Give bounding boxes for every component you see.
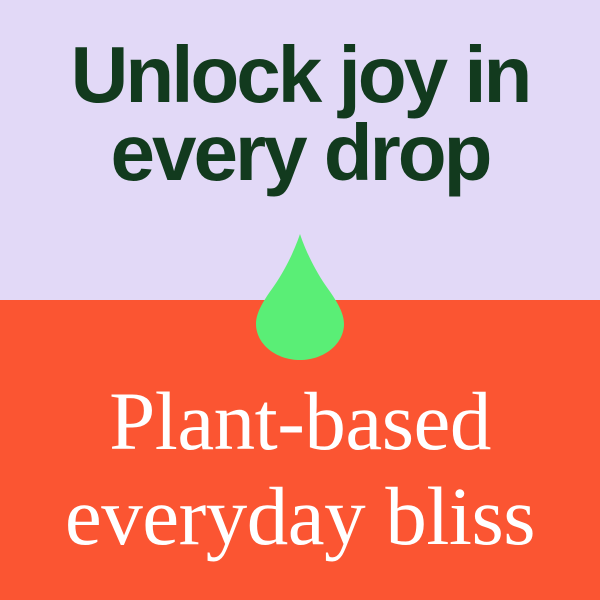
headline-line-2: every drop xyxy=(0,114,600,192)
water-drop-icon xyxy=(256,234,344,360)
subheadline: Plant-based everyday bliss xyxy=(0,374,600,563)
subheadline-line-2: everyday bliss xyxy=(0,469,600,564)
subheadline-line-1: Plant-based xyxy=(0,374,600,469)
headline: Unlock joy in every drop xyxy=(0,36,600,193)
headline-line-1: Unlock joy in xyxy=(0,36,600,114)
promo-poster: Unlock joy in every drop Plant-based eve… xyxy=(0,0,600,600)
